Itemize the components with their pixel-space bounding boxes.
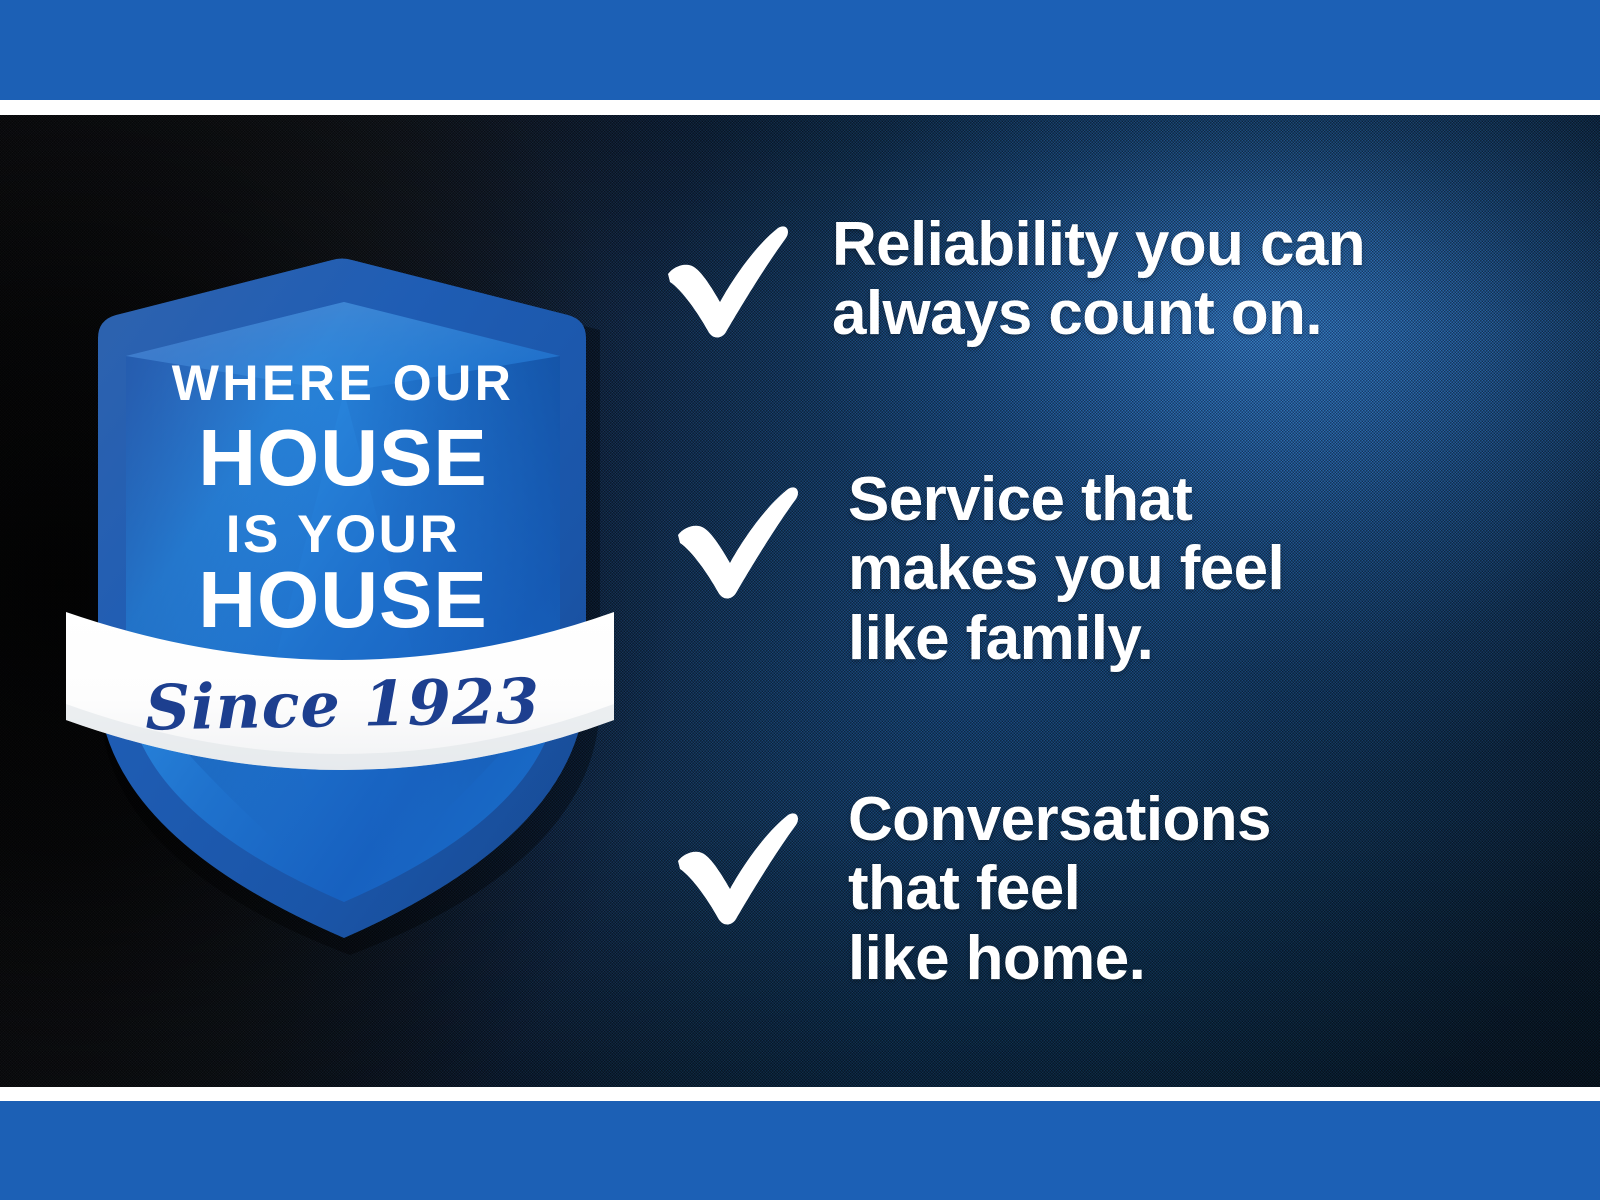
benefit-item: Service that makes you feel like family.: [670, 465, 1284, 673]
shield-line-2: HOUSE: [198, 413, 488, 502]
checkmark-icon: [670, 805, 802, 925]
benefit-text: Reliability you can always count on.: [832, 210, 1365, 349]
benefit-item: Reliability you can always count on.: [660, 210, 1365, 349]
shield-line-1: WHERE OUR: [172, 355, 515, 411]
bottom-brand-bar: [0, 1101, 1600, 1200]
checkmark-icon: [670, 479, 802, 599]
promo-poster: WHERE OUR HOUSE IS YOUR HOUSE Since 1923…: [0, 0, 1600, 1200]
checkmark-icon: [660, 218, 792, 338]
ribbon-text: Since 1923: [145, 665, 541, 745]
top-brand-bar: [0, 0, 1600, 100]
benefit-text: Conversations that feel like home.: [848, 785, 1271, 993]
benefit-item: Conversations that feel like home.: [670, 785, 1271, 993]
shield-logo: WHERE OUR HOUSE IS YOUR HOUSE Since 1923: [60, 160, 620, 960]
benefits-list: Reliability you can always count on. Ser…: [660, 150, 1560, 1050]
shield-line-4: HOUSE: [198, 555, 488, 644]
benefit-text: Service that makes you feel like family.: [848, 465, 1284, 673]
